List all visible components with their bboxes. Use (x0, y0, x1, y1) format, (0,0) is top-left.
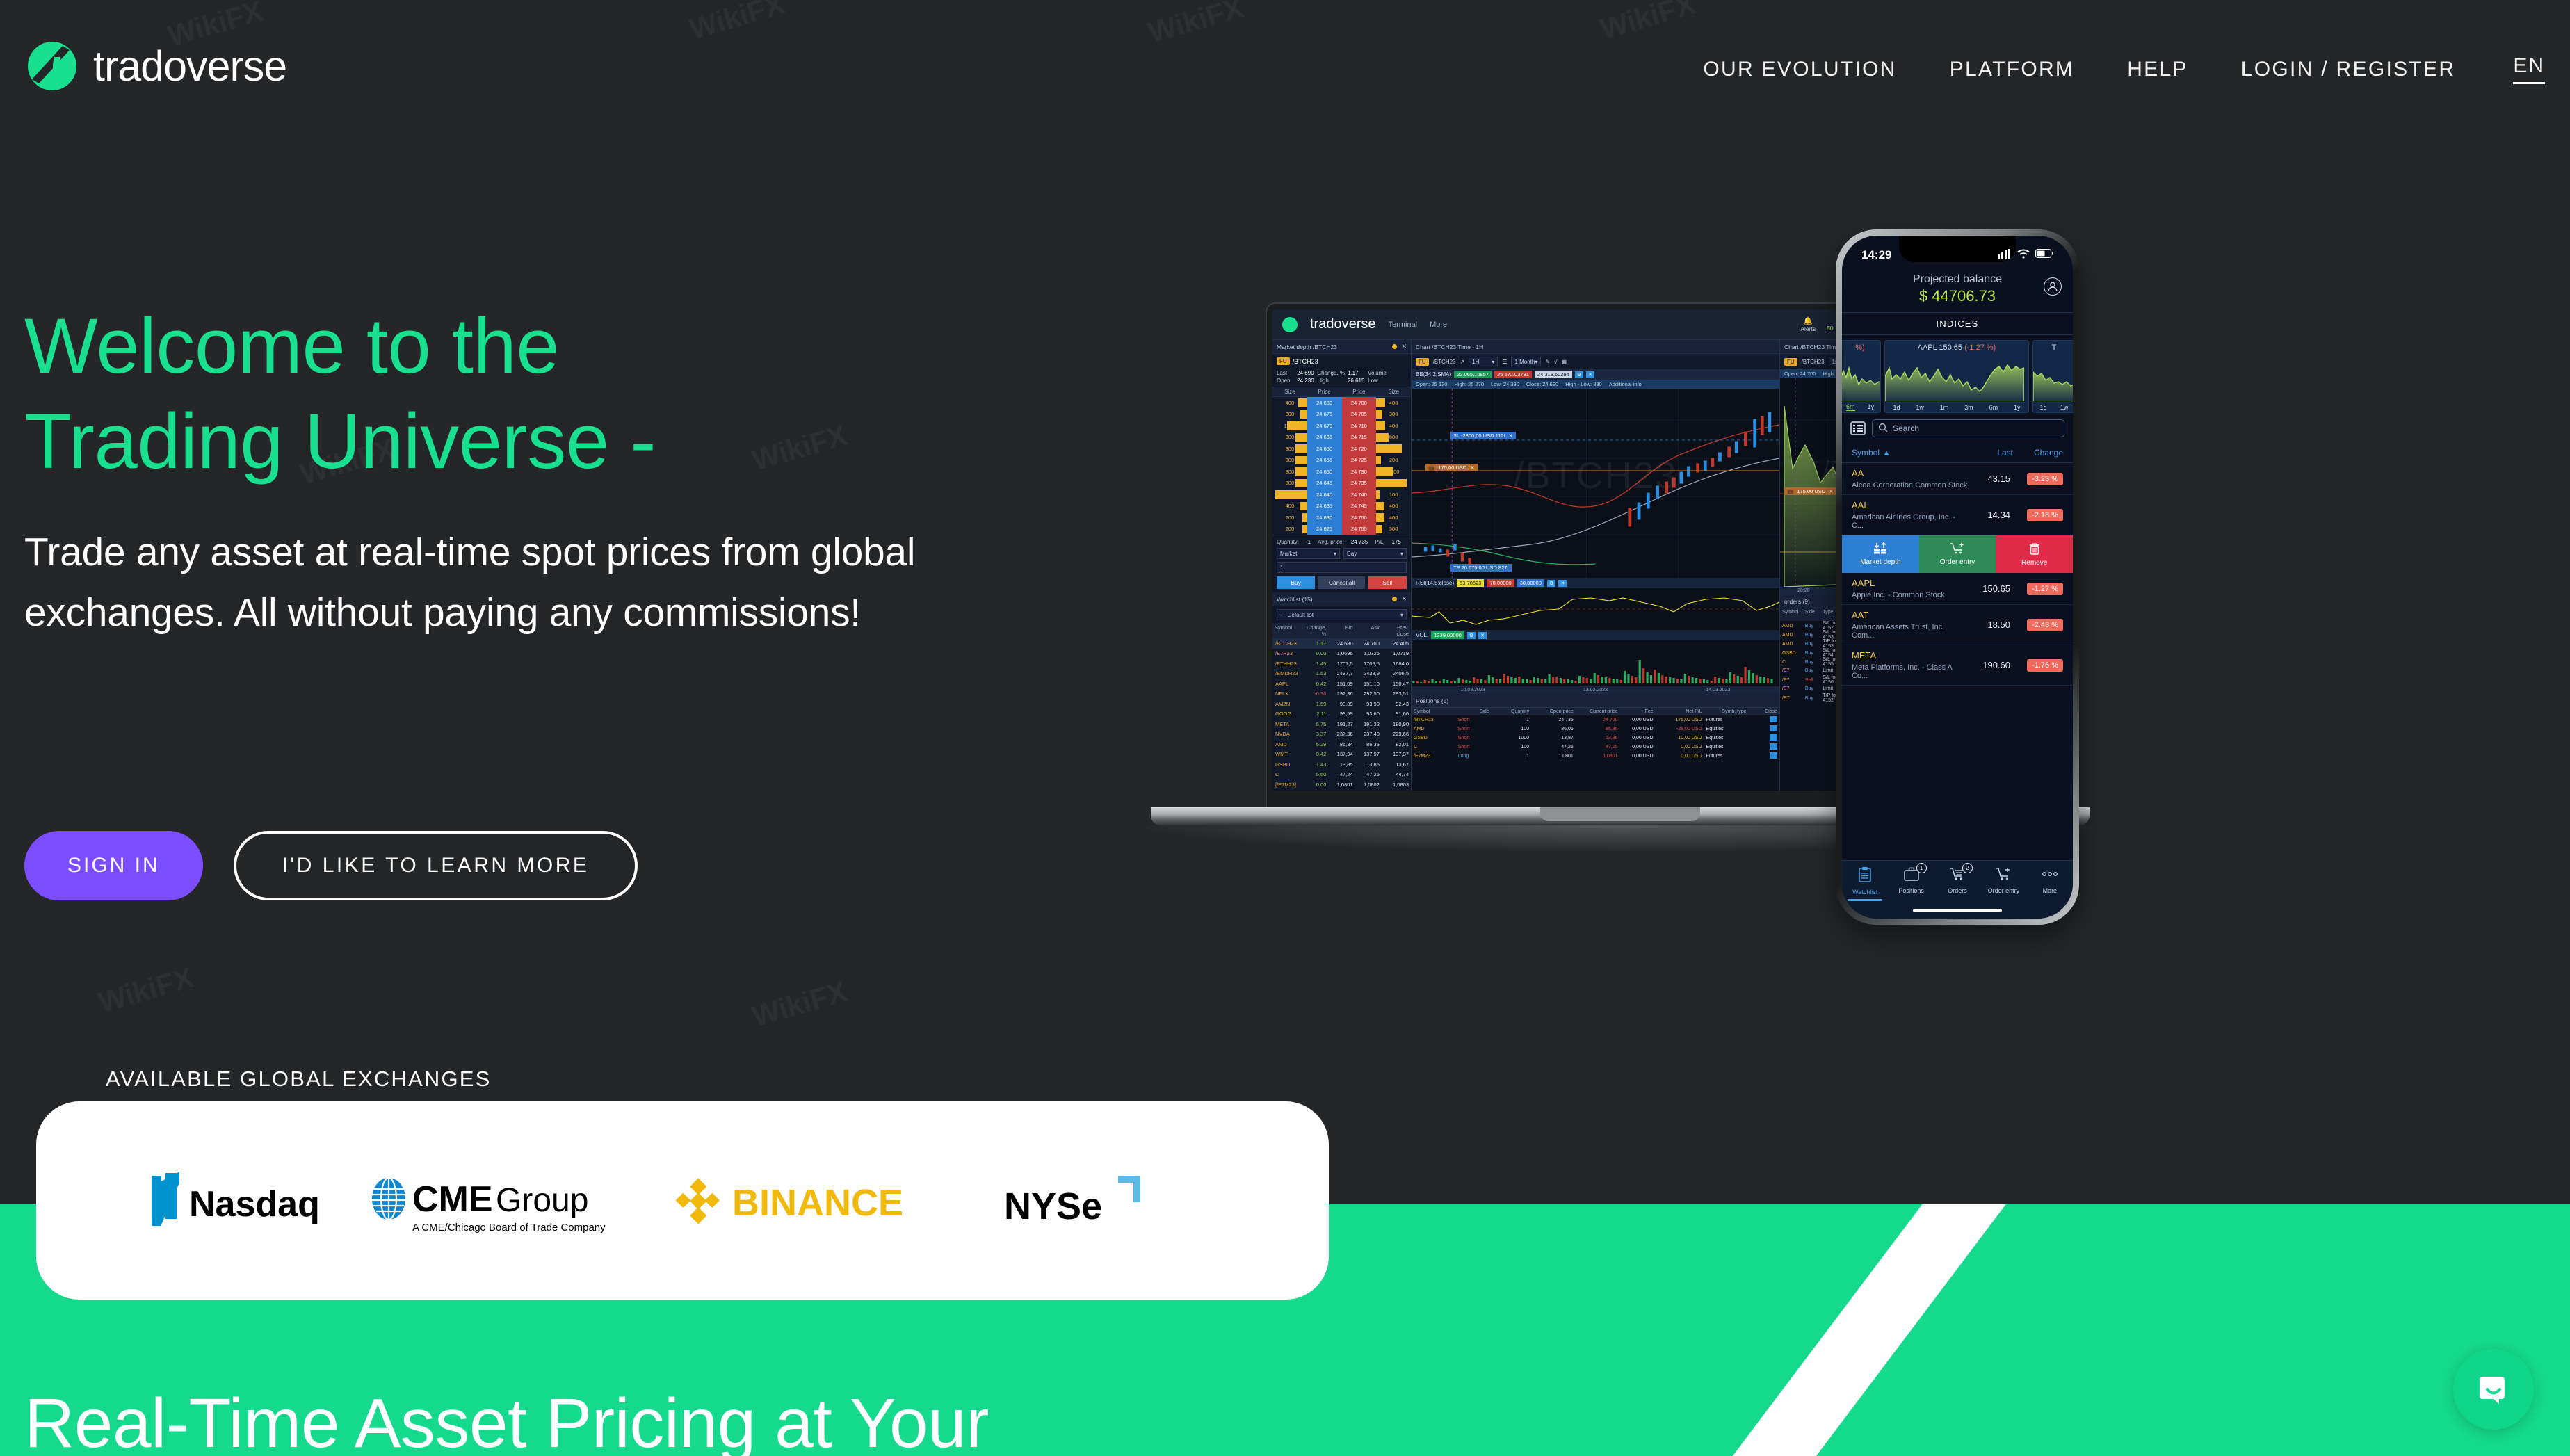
qty-value: -1 (1306, 539, 1311, 545)
quantity-stepper[interactable]: 1 (1277, 562, 1407, 573)
watchlist-row[interactable]: /BTCH231.1724 68024 70024 405 (1272, 638, 1411, 649)
menu-more[interactable]: More (1430, 321, 1447, 329)
alerts-button[interactable]: 🔔 Alerts (1800, 316, 1816, 332)
col-price-bid: Price (1307, 387, 1342, 396)
timeframe-option[interactable]: 3m (1964, 404, 1973, 411)
close-icon[interactable]: ✕ (1470, 464, 1474, 471)
market-depth-row[interactable]: 80024 66524 715600 (1272, 432, 1411, 444)
chart-type-icon[interactable]: ☰ (1502, 359, 1507, 365)
pos-col-side: Side (1456, 708, 1492, 715)
tab-label: Order entry (1988, 887, 2020, 894)
briefcase-icon: 💼 (1787, 488, 1793, 494)
market-depth-row[interactable]: 40024 63524 745400 (1272, 501, 1411, 512)
row-change: -1.76 % (2010, 658, 2063, 672)
tab-positions[interactable]: 1 Positions (1888, 866, 1934, 894)
index-card[interactable]: %) 6m 1y (1842, 340, 1881, 413)
col-symbol-label: Symbol (1852, 448, 1880, 458)
tab-label: Positions (1898, 887, 1924, 894)
indicator-close-icon[interactable]: ✕ (1586, 371, 1594, 378)
volume-value: 1339,00000 (1431, 631, 1464, 639)
sparkline-chart (1842, 361, 1881, 401)
watchlist-row[interactable]: WMT0.42137,94137,97137,37 (1272, 750, 1411, 760)
timeframe-option[interactable]: 1w (2060, 404, 2069, 411)
mobile-trading-app: 14:29 Projected balance (1842, 236, 2073, 919)
app-logo-icon (1282, 317, 1298, 332)
validity-value: Day (1347, 551, 1357, 557)
timeframe-option[interactable]: 1w (1916, 404, 1924, 411)
row-change: -2.43 % (2010, 618, 2063, 631)
alerts-label: Alerts (1800, 325, 1816, 332)
stat-high-label: High (1317, 378, 1345, 384)
mobile-balance: Projected balance $ 44706.73 (1842, 270, 2073, 312)
timeframe-option[interactable]: 1y (1867, 403, 1874, 411)
nasdaq-logo: Nasdaq (140, 1166, 328, 1236)
pos-col-symb-type: Symb. type (1704, 708, 1749, 715)
stat-last-label: Last (1277, 370, 1294, 376)
watchlist-title: Watchlist (15) (1277, 596, 1313, 603)
tab-label: More (2043, 887, 2058, 894)
row-symbol: AAL (1852, 500, 1869, 510)
wifi-icon (2017, 249, 2030, 262)
col-symbol[interactable]: Symbol ▲ (1852, 448, 1967, 458)
position-label: 175,00 USD (1438, 464, 1466, 471)
svg-text:Nasdaq: Nasdaq (189, 1184, 320, 1224)
stop-loss-label: SL -2800,00 USD 112t (1453, 432, 1505, 439)
main-candlestick-chart[interactable]: /BTCH23 (1412, 389, 1779, 578)
positions-badge: 1 (1916, 863, 1927, 873)
list-item[interactable]: AAPLApple Inc. - Common Stock150.65-1.27… (1842, 573, 2073, 605)
close-icon[interactable]: ✕ (1829, 488, 1833, 494)
pos-col-open-price: Open price (1531, 708, 1576, 715)
positions-columns: Symbol Side Quantity Open price Current … (1412, 708, 1779, 715)
tab-watchlist[interactable]: Watchlist (1842, 866, 1888, 896)
chevron-down-icon: ▾ (1492, 359, 1494, 365)
timeframe-select[interactable]: 1H ▾ (1469, 357, 1498, 366)
svg-text:A CME/Chicago Board of Trade C: A CME/Chicago Board of Trade Company (412, 1222, 606, 1233)
ohlc-high-low: High - Low: 880 (1565, 381, 1602, 387)
wl-col-ask: Ask (1355, 623, 1382, 638)
hero-cta-group: SIGN IN I'D LIKE TO LEARN MORE (24, 831, 638, 900)
indicator-close-icon[interactable]: ✕ (1558, 580, 1567, 587)
cme-group-logo: CME Group A CME/Chicago Board of Trade C… (363, 1163, 634, 1239)
order-type-value: Market (1280, 551, 1297, 557)
date-tick: 10.03.2023 (1461, 688, 1485, 693)
buy-button[interactable]: Buy (1277, 576, 1315, 589)
market-depth-row[interactable]: 280024 64024 740100 (1272, 489, 1411, 501)
indicator-settings-icon[interactable]: ⚙ (1575, 371, 1583, 378)
settings-icon[interactable]: ▦ (1561, 359, 1567, 365)
cellular-icon (1998, 249, 2012, 262)
row-last-price: 14.34 (1969, 510, 2010, 520)
col-size-ask: Size (1376, 387, 1411, 396)
svg-text:BINANCE: BINANCE (732, 1182, 903, 1224)
market-depth-rows: 40024 68024 70040060024 67524 7053001200… (1272, 397, 1411, 535)
hero-subtitle: Trade any asset at real-time spot prices… (24, 522, 1067, 642)
symbol-type-tag: FU (1277, 357, 1290, 365)
list-item[interactable]: AAAlcoa Corporation Common Stock43.15-3.… (1842, 463, 2073, 495)
row-symbol: META (1852, 650, 1876, 661)
volume-chart (1412, 640, 1779, 686)
pos-col-current-price: Current price (1576, 708, 1620, 715)
wl-col-prev-close: Prev. close (1382, 623, 1411, 638)
col-size-bid: Size (1272, 387, 1307, 396)
rsi-chart (1412, 588, 1779, 630)
page-title: Welcome to the Trading Universe - (24, 299, 1109, 489)
search-placeholder: Search (1893, 423, 1919, 433)
stat-volume-value (1389, 370, 1407, 376)
order-entry-action[interactable]: Order entry (1919, 535, 1996, 573)
watchlist-row[interactable]: /ETHH231.451707,51709,51684,0 (1272, 658, 1411, 669)
chevron-down-icon: ▾ (1334, 551, 1336, 557)
avg-price-value: 24 735 (1351, 539, 1368, 545)
next-section-heading: Real-Time Asset Pricing at Your (24, 1384, 989, 1456)
symbol-type-tag: FU (1784, 358, 1797, 366)
phone-mockup: 14:29 Projected balance (1836, 229, 2079, 925)
status-clock: 14:29 (1861, 248, 1891, 262)
market-depth-action[interactable]: Market depth (1842, 535, 1919, 573)
rsi-oversold: 30,00000 (1517, 579, 1544, 587)
take-profit-label: TP 20 675,00 USD 827t (1453, 565, 1509, 571)
svg-text:Group: Group (496, 1182, 588, 1219)
row-last-price: 150.65 (1969, 583, 2010, 594)
exchanges-card: Nasdaq CME Group A CME/Chicago Board of … (36, 1101, 1329, 1300)
pos-col-symbol: Symbol (1412, 708, 1456, 715)
sort-asc-icon: ▲ (1882, 448, 1891, 458)
chevron-down-icon: ▾ (1535, 359, 1537, 365)
compare-icon[interactable]: ↗ (1460, 359, 1465, 365)
watchlist-select[interactable]: + Default list ▾ (1277, 609, 1407, 620)
search-icon (1878, 423, 1888, 435)
pl-label: P/L: (1375, 539, 1384, 545)
bell-icon: 🔔 (1800, 316, 1816, 325)
add-icon[interactable]: + (1280, 612, 1284, 618)
avg-price-label: Avg. price: (1318, 539, 1344, 545)
watchlist-row[interactable]: NVDA3.37237,36237,40229,66 (1272, 729, 1411, 740)
market-depth-symbol[interactable]: FU /BTCH23 (1277, 357, 1318, 365)
watchlist-row[interactable]: AMZN1.5993,8993,9092,43 (1272, 699, 1411, 709)
mobile-tabbar: Watchlist 1 Positions 2 Or (1842, 860, 2073, 919)
remove-action[interactable]: Remove (1996, 535, 2073, 573)
watchlist-row[interactable]: GSBD1.4313,8513,8613,67 (1272, 759, 1411, 770)
row-symbol: AAPL (1852, 578, 1875, 588)
symbol-type-tag: FU (1416, 358, 1429, 366)
timeframe-option[interactable]: 1y (2014, 404, 2021, 411)
col-price-ask: Price (1342, 387, 1377, 396)
bb-lower-value: 22 065,16857 (1454, 371, 1492, 378)
home-indicator (1913, 909, 2002, 912)
market-depth-row[interactable]: 20024 63024 750400 (1272, 512, 1411, 524)
watchlist-name: Default list (1288, 612, 1396, 618)
watchlist-rows: /BTCH231.1724 68024 70024 405/E7H230.001… (1272, 638, 1411, 790)
row-change: -1.27 % (2010, 582, 2063, 595)
row-description: Alcoa Corporation Common Stock (1852, 481, 1969, 490)
index-card-title: T (2033, 341, 2073, 353)
pos-col-net-pl: Net P/L (1656, 708, 1704, 715)
watchlist-row[interactable]: NFLX-0.36292,36292,50293,51 (1272, 689, 1411, 699)
wl-col-symbol: Symbol (1272, 623, 1302, 638)
market-depth-row[interactable]: 80024 66024 7202200 (1272, 443, 1411, 455)
bb-mid-value: 24 318,60294 (1535, 371, 1572, 378)
close-icon[interactable]: ✕ (1509, 432, 1513, 439)
list-view-icon[interactable] (1850, 421, 1866, 436)
laptop-notch (1540, 807, 1700, 821)
main-chart-header: Chart /BTCH23 Time - 1H (1412, 340, 1779, 354)
mobile-section-title: INDICES (1842, 312, 2073, 335)
status-bar: 14:29 (1842, 236, 2073, 270)
position-row[interactable]: GSBDShort100013,8713,860,00 USD10,00 USD… (1412, 734, 1779, 743)
qty-label: Quantity: (1277, 539, 1299, 545)
market-depth-row[interactable]: 120024 67024 710400 (1272, 420, 1411, 432)
timeframe-row[interactable]: 1d 1w (2033, 404, 2073, 411)
landing-page: WikiFX WikiFX WikiFX WikiFX WikiFX WikiF… (0, 0, 2570, 1456)
range-select[interactable]: 1 Month ▾ (1511, 357, 1541, 366)
col-change[interactable]: Change (2013, 448, 2063, 458)
volume-label: VOL. (1416, 632, 1428, 638)
chart-date-axis: 10.03.2023 13.03.2023 14.03.2023 (1412, 686, 1779, 694)
pos-col-close: Close (1748, 708, 1779, 715)
position-row[interactable]: /E7M23Long11,08011,08010,00 USD0,00 USDF… (1412, 752, 1779, 761)
balance-label: Projected balance (1842, 273, 2073, 286)
row-change: -3.23 % (2010, 472, 2063, 485)
main-nav: OUR EVOLUTION PLATFORM HELP LOGIN / REGI… (1676, 54, 2545, 84)
nyse-logo: NYSe (999, 1166, 1159, 1236)
left-panel: Market depth /BTCH23 ✕ FU /BTCH23 Last 2… (1272, 340, 1412, 791)
rsi-value: 53,78523 (1457, 579, 1484, 587)
take-profit-tag[interactable]: TP 20 675,00 USD 827t (1450, 564, 1512, 572)
watchlist-row[interactable]: /EMDH231.532437,72438,92406,5 (1272, 669, 1411, 679)
action-label: Market depth (1860, 558, 1900, 566)
validity-select[interactable]: Day ▾ (1343, 548, 1407, 559)
timeframe-option[interactable]: 6m (1846, 403, 1855, 411)
chevron-down-icon: ▾ (1400, 551, 1403, 557)
row-description: Apple Inc. - Common Stock (1852, 591, 1969, 599)
position-tag[interactable]: 💼 175,00 USD ✕ (1425, 464, 1478, 471)
chat-widget-button[interactable] (2453, 1349, 2534, 1430)
nav-item-help[interactable]: HELP (2101, 58, 2215, 81)
chart-symbol[interactable]: /BTCH23 (1433, 359, 1456, 365)
stat-last-value: 24 690 (1297, 370, 1314, 376)
date-tick: 13.03.2023 (1583, 688, 1608, 693)
timeframe-option[interactable]: 1m (1940, 404, 1949, 411)
sparkline-chart (2033, 361, 2073, 401)
market-depth-row[interactable]: 80024 65024 7301000 (1272, 466, 1411, 478)
stat-high-value: 26 615 (1348, 378, 1365, 384)
additional-info-toggle[interactable]: Additional info (1609, 381, 1642, 387)
row-description: American Airlines Group, Inc. - C... (1852, 513, 1969, 530)
positions-panel-header: Positions (5) (1412, 694, 1779, 708)
watermark: WikiFX (748, 975, 850, 1034)
center-panel: Chart /BTCH23 Time - 1H FU /BTCH23 ↗ 1H … (1412, 340, 1780, 791)
brand-logo[interactable]: tradoverse (26, 40, 286, 92)
nav-item-platform[interactable]: PLATFORM (1923, 58, 2101, 81)
indicator-settings-icon[interactable]: ⚙ (1467, 632, 1476, 639)
site-header: tradoverse OUR EVOLUTION PLATFORM HELP L… (0, 0, 2570, 149)
cart-plus-icon (1995, 866, 2012, 885)
tab-more[interactable]: More (2027, 866, 2073, 894)
pos-col-quantity: Quantity (1492, 708, 1531, 715)
watchlist-row[interactable]: GOOG2.1193,5993,6091,66 (1272, 709, 1411, 720)
tab-order-entry[interactable]: Order entry (1980, 866, 2026, 894)
index-card-title: %) (1842, 341, 1880, 353)
search-input[interactable]: Search (1872, 419, 2064, 437)
decorative-diagonal-stripe (1535, 1204, 2049, 1456)
sell-button[interactable]: Sell (1368, 576, 1407, 589)
row-description: Meta Platforms, Inc. - Class A Co... (1852, 663, 1969, 680)
bollinger-indicator-bar: BB(34;2;SMA) 22 065,16857 26 572,03731 2… (1412, 369, 1779, 380)
position-row[interactable]: AMDShort10086,0686,350,00 USD-29,00 USDE… (1412, 725, 1779, 734)
nav-item-our-evolution[interactable]: OUR EVOLUTION (1676, 58, 1923, 81)
timeframe-option[interactable]: 1d (2040, 404, 2047, 411)
hero-copy: Welcome to the Trading Universe - Trade … (24, 299, 1109, 643)
menu-terminal[interactable]: Terminal (1389, 321, 1418, 329)
mobile-search-row: Search (1842, 413, 2073, 444)
timeframe-option[interactable]: 1d (1893, 404, 1900, 411)
timeframe-row[interactable]: 6m 1y (1842, 403, 1880, 411)
stat-low-label: Low (1368, 378, 1387, 384)
battery-icon (2035, 249, 2053, 261)
svg-text:CME: CME (412, 1179, 493, 1220)
market-depth-panel-header: Market depth /BTCH23 ✕ (1272, 340, 1411, 354)
watchlist-row[interactable]: /E7H230.001,06951,07251,0719 (1272, 649, 1411, 659)
timeframe-value: 1H (1472, 359, 1479, 365)
watchlist-columns: Symbol Change, % Bid Ask Prev. close (1272, 623, 1411, 638)
product-devices-mockup: tradoverse Terminal More 🔔 Alerts Balanc… (1140, 229, 2357, 939)
position-row[interactable]: /BTCH23Short124 73524 7000,00 USD175,00 … (1412, 715, 1779, 725)
action-label: Order entry (1940, 558, 1975, 566)
range-value: 1 Month (1514, 359, 1535, 365)
chevron-down-icon: ▾ (1400, 612, 1403, 618)
bb-upper-value: 26 572,03731 (1494, 371, 1532, 378)
col-last[interactable]: Last (1967, 448, 2013, 458)
svg-text:NYSe: NYSe (1004, 1186, 1102, 1227)
list-item[interactable]: METAMeta Platforms, Inc. - Class A Co...… (1842, 645, 2073, 686)
cancel-all-button[interactable]: Cancel all (1318, 576, 1364, 589)
row-last-price: 190.60 (1969, 660, 2010, 670)
row-last-price: 18.50 (1969, 620, 2010, 630)
list-item[interactable]: AALAmerican Airlines Group, Inc. - C...1… (1842, 495, 2073, 535)
messenger-chat-icon (2475, 1370, 2512, 1409)
mobile-list-columns: Symbol ▲ Last Change (1842, 444, 2073, 463)
ohlc-low: Low: 24 390 (1491, 381, 1519, 387)
status-dot-icon (1392, 597, 1397, 601)
index-card[interactable]: T 1d 1w (2032, 340, 2073, 413)
wl-col-change: Change, % (1302, 623, 1328, 638)
indicator-close-icon[interactable]: ✕ (1478, 632, 1487, 639)
action-label: Remove (2021, 559, 2047, 567)
rsi-indicator-bar: RSI(14,5;close) 53,78523 70,00000 30,000… (1412, 578, 1779, 588)
trash-icon (2028, 542, 2041, 558)
row-last-price: 43.15 (1969, 474, 2010, 484)
close-icon[interactable]: ✕ (1401, 595, 1407, 603)
row-symbol: AA (1852, 468, 1864, 478)
language-selector[interactable]: EN (2513, 54, 2545, 84)
ohlc-close: Close: 24 690 (1526, 381, 1558, 387)
sparkline-chart (1885, 361, 2024, 401)
balance-value: $ 44706.73 (1842, 287, 2073, 305)
draw-icon[interactable]: ✎ (1545, 359, 1550, 365)
market-depth-row[interactable]: 60024 67524 705300 (1272, 409, 1411, 421)
position-row[interactable]: CShort10047,2547,250,00 USD0,00 USDEquit… (1412, 743, 1779, 752)
stat-low-value (1389, 378, 1407, 384)
order-entry-form: Quantity: -1 Avg. price: 24 735 P/L: 175 (1272, 535, 1411, 592)
stat-volume-label: Volume (1368, 370, 1387, 376)
orders-badge: 2 (1962, 863, 1973, 873)
row-description: American Assets Trust, Inc. Com... (1852, 623, 1969, 640)
clipboard-icon (1857, 866, 1873, 887)
briefcase-icon: 💼 (1428, 464, 1434, 471)
watchlist-row[interactable]: AAPL0.42151,09151,10150,47 (1272, 679, 1411, 689)
ord-col-side: Side (1803, 608, 1821, 621)
stop-loss-tag[interactable]: SL -2800,00 USD 112t ✕ (1450, 432, 1516, 439)
index-symbol-price: AAPL 150.65 (1918, 343, 1964, 352)
list-item[interactable]: AATAmerican Assets Trust, Inc. Com...18.… (1842, 605, 2073, 645)
market-depth-title: Market depth /BTCH23 (1277, 343, 1337, 350)
cart-plus-icon (1950, 542, 1965, 557)
sign-in-button[interactable]: SIGN IN (24, 831, 203, 900)
side-position-tag[interactable]: 💼 175,00 USD ✕ (1784, 487, 1836, 495)
market-depth-stats: Last 24 690 Change, % 1.17 Volume Open 2… (1272, 369, 1411, 387)
side-position-label: 175,00 USD (1797, 488, 1825, 494)
rsi-label: RSI(14,5;close) (1416, 580, 1454, 586)
ohlc-open: Open: 25 130 (1416, 381, 1447, 387)
binance-logo: BINANCE (669, 1170, 940, 1232)
account-avatar-icon[interactable] (2044, 277, 2062, 296)
watchlist-row[interactable]: AMD5.2986,3486,3582,01 (1272, 739, 1411, 750)
tab-label: Orders (1948, 887, 1967, 894)
stat-open-label: Open (1277, 378, 1294, 384)
main-chart-ohlc: Open: 25 130 High: 25 270 Low: 24 390 Cl… (1412, 380, 1779, 389)
mobile-watchlist-rows: AAAlcoa Corporation Common Stock43.15-3.… (1842, 463, 2073, 686)
date-tick: 14.03.2023 (1706, 688, 1730, 693)
timeframe-row[interactable]: 1d 1w 1m 3m 6m 1y (1885, 404, 2028, 411)
stat-change-value: 1.17 (1348, 370, 1365, 376)
wl-col-bid: Bid (1328, 623, 1355, 638)
close-icon[interactable]: ✕ (1401, 343, 1407, 350)
market-depth-row[interactable]: 20024 62524 755300 (1272, 524, 1411, 535)
app-brand-name: tradoverse (1310, 316, 1376, 332)
stat-open-value: 24 230 (1297, 378, 1314, 384)
indicator-icon[interactable]: √ (1554, 359, 1557, 365)
main-chart-toolbar: FU /BTCH23 ↗ 1H ▾ ☰ 1 Month ▾ (1412, 354, 1779, 369)
positions-rows: /BTCH23Short124 73524 7000,00 USD175,00 … (1412, 715, 1779, 761)
indicator-settings-icon[interactable]: ⚙ (1547, 580, 1555, 587)
tab-orders[interactable]: 2 Orders (1934, 866, 1980, 894)
market-depth-row[interactable]: 40024 68024 700400 (1272, 397, 1411, 409)
index-change: (-1.27 %) (1964, 343, 1996, 352)
nav-item-login-register[interactable]: LOGIN / REGISTER (2215, 58, 2482, 81)
tradoverse-logo-icon (26, 40, 78, 92)
rsi-overbought: 70,00000 (1487, 579, 1514, 587)
indices-carousel[interactable]: %) 6m 1y AAPL 150.65 (-1.27 %) (1842, 335, 2073, 413)
watchlist-row[interactable]: C5.6047,2447,2544,74 (1272, 770, 1411, 780)
market-depth-icon (1873, 542, 1887, 557)
watchlist-panel-header: Watchlist (15) ✕ (1272, 592, 1411, 606)
timeframe-option[interactable]: 6m (1989, 404, 1998, 411)
pl-value: 175 (1392, 539, 1401, 545)
market-depth-columns: Size Price Price Size (1272, 387, 1411, 397)
index-card-aapl[interactable]: AAPL 150.65 (-1.27 %) 1d 1w 1m 3m 6m (1884, 340, 2029, 413)
tab-label: Watchlist (1852, 889, 1877, 896)
watchlist-row[interactable]: META5.75191,27191,32180,90 (1272, 719, 1411, 729)
chart-symbol[interactable]: /BTCH23 (1802, 359, 1825, 365)
learn-more-button[interactable]: I'D LIKE TO LEARN MORE (234, 831, 638, 900)
market-depth-row[interactable]: 80024 64524 7352800 (1272, 478, 1411, 490)
bb-label: BB(34;2;SMA) (1416, 371, 1451, 378)
ellipsis-icon (2041, 866, 2059, 885)
market-depth-row[interactable]: 80024 65524 725200 (1272, 455, 1411, 467)
order-type-select[interactable]: Market ▾ (1277, 548, 1340, 559)
watchlist-row[interactable]: [/E7M23]0.001,08011,08021,0803 (1272, 779, 1411, 790)
